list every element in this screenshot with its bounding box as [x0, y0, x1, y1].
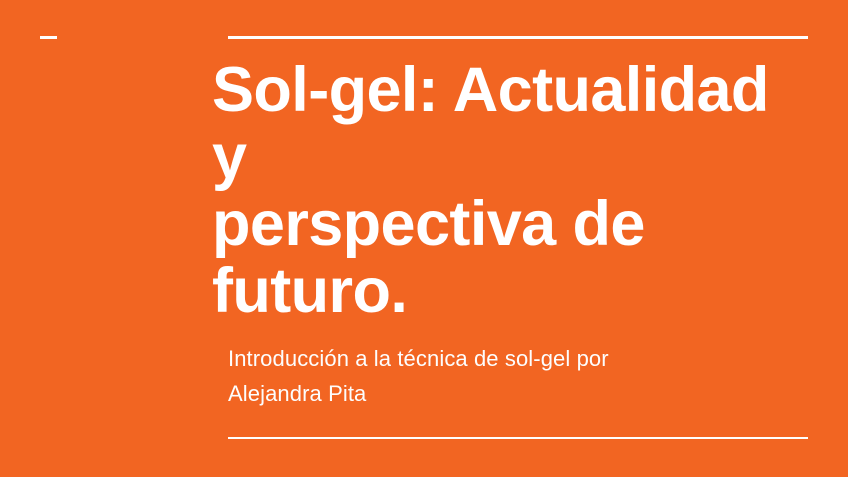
top-divider-rule	[228, 36, 808, 39]
slide-subtitle: Introducción a la técnica de sol-gel por…	[228, 341, 748, 411]
dash-mark-icon	[40, 36, 57, 39]
title-slide: Sol-gel: Actualidad y perspectiva de fut…	[0, 0, 848, 477]
bottom-divider-rule	[228, 437, 808, 439]
slide-title: Sol-gel: Actualidad y perspectiva de fut…	[212, 57, 812, 325]
